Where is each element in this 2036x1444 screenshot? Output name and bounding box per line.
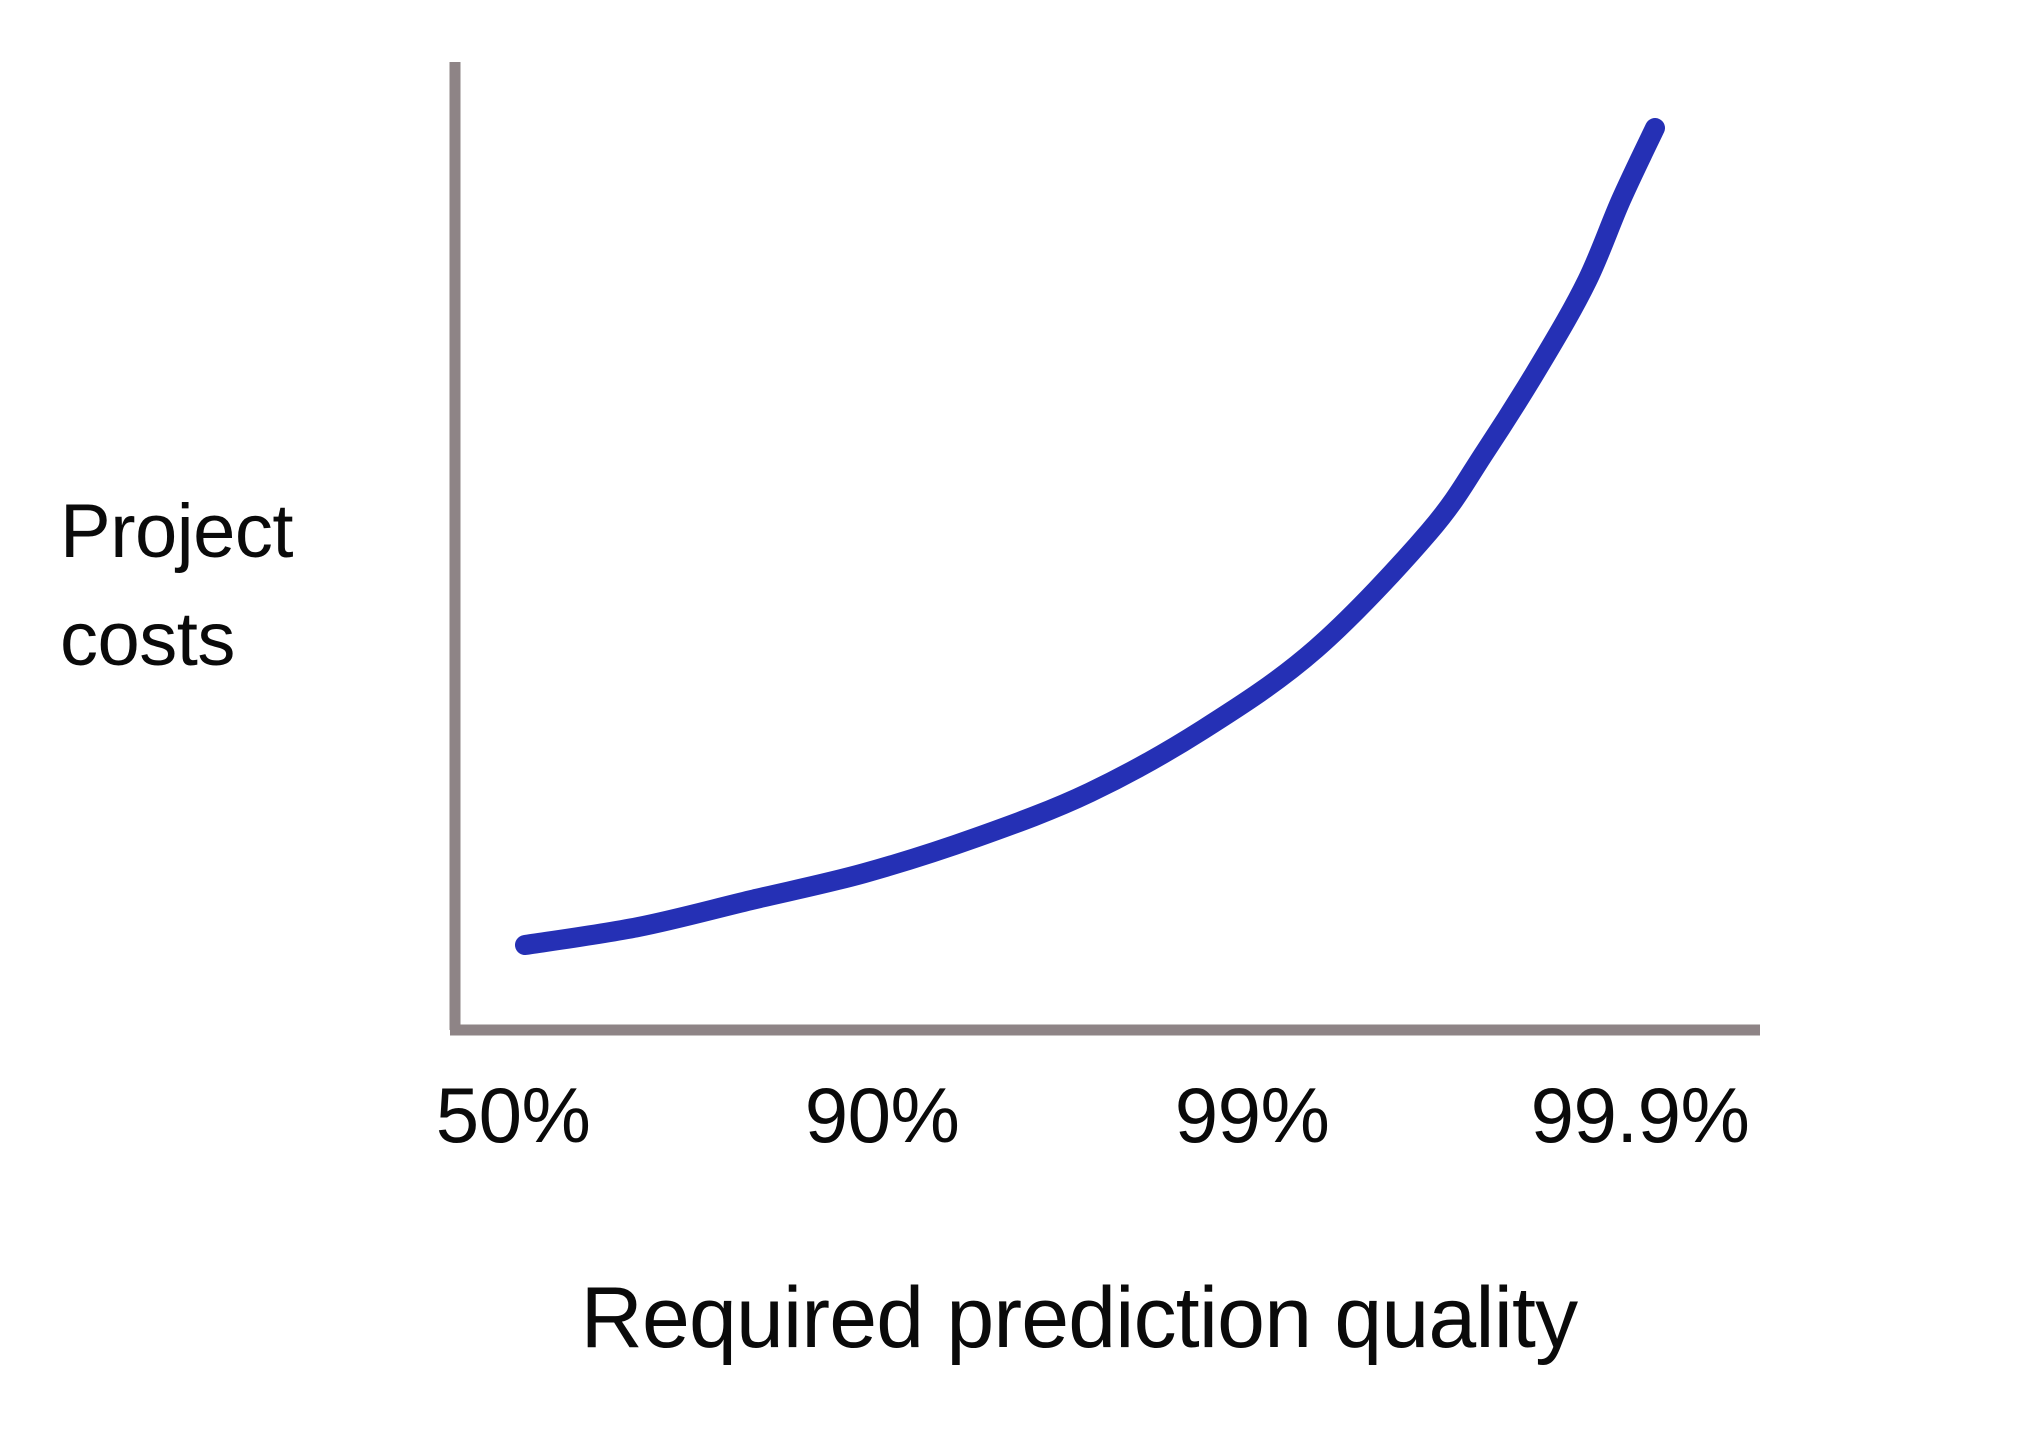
y-axis-label: Project costs xyxy=(60,478,440,694)
x-axis-title: Required prediction quality xyxy=(0,1266,2036,1370)
x-axis-title-text: Required prediction quality xyxy=(581,1266,1578,1370)
x-tick-label-2: 99% xyxy=(1175,1070,1330,1160)
chart-canvas: Project costs 50% 90% 99% 99.9% Required… xyxy=(0,0,2036,1444)
x-tick-label-3: 99.9% xyxy=(1531,1070,1750,1160)
x-tick-label-1: 90% xyxy=(805,1070,960,1160)
chart-plot-area xyxy=(0,0,2036,1444)
cost-curve-line xyxy=(525,128,1655,945)
x-tick-label-0: 50% xyxy=(436,1070,591,1160)
